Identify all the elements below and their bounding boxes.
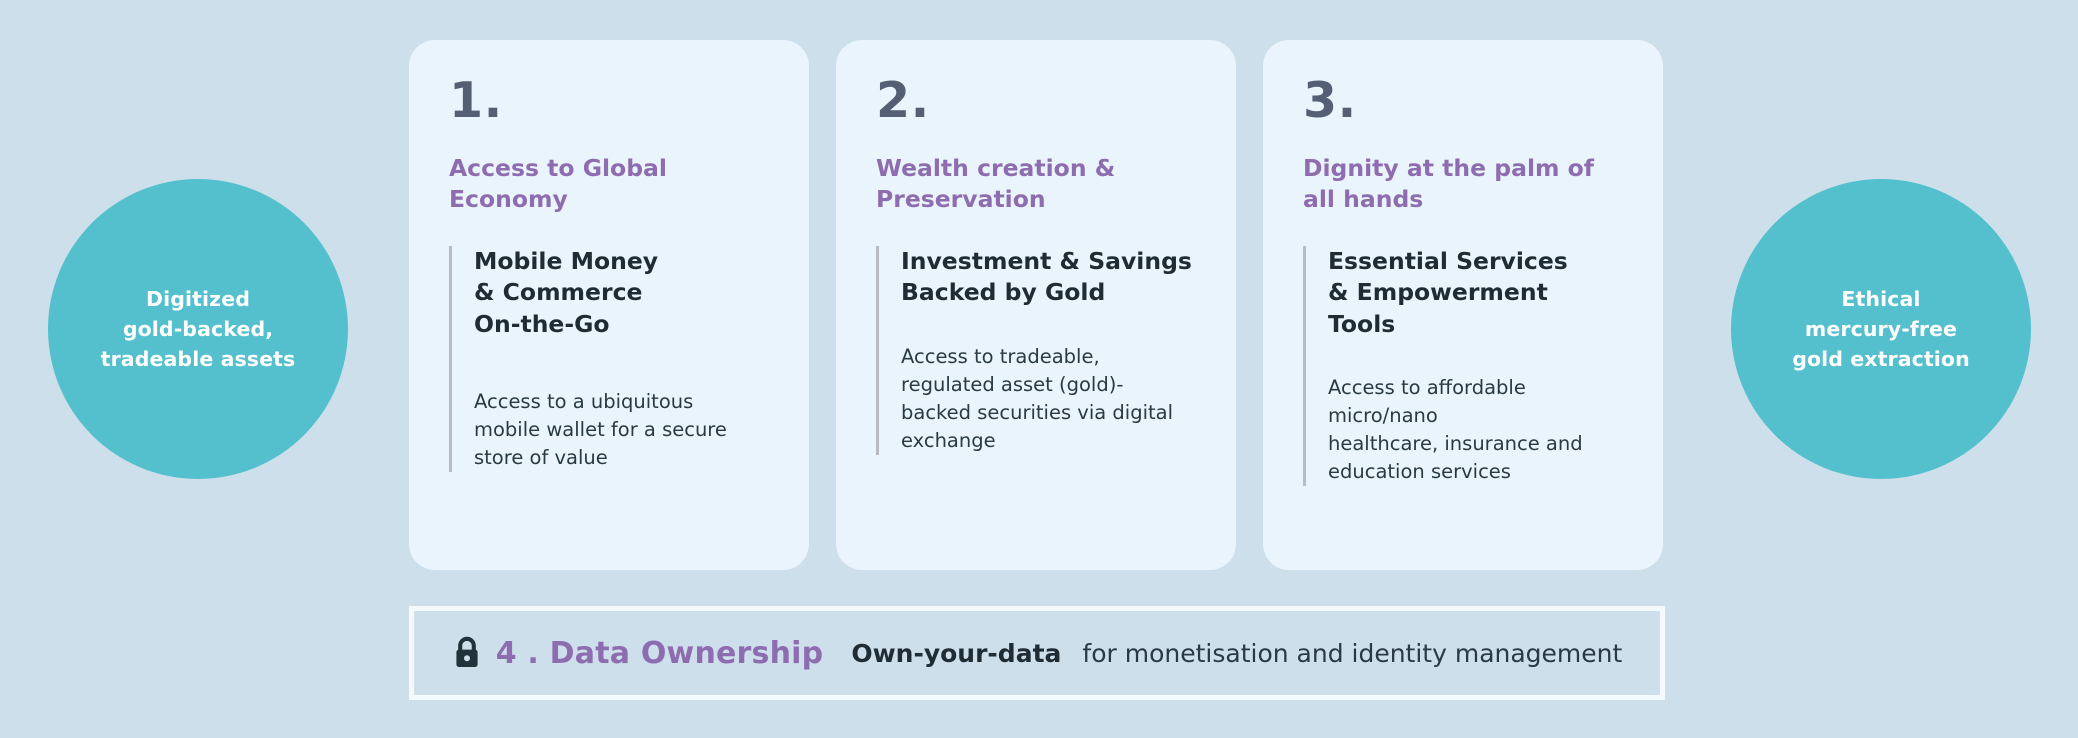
lock-icon [452, 635, 482, 671]
card-title: Wealth creation & Preservation [876, 153, 1196, 214]
footer-strong-text: Own-your-data [851, 639, 1061, 668]
card-body: Essential Services & Empowerment Tools A… [1303, 246, 1623, 486]
card-title: Dignity at the palm of all hands [1303, 153, 1623, 214]
card-subtitle: Mobile Money & Commerce On-the-Go [474, 246, 769, 340]
right-circle-label: Ethical mercury-free gold extraction [1776, 284, 1986, 375]
left-circle-label: Digitized gold-backed, tradeable assets [85, 284, 312, 375]
card-subtitle: Investment & Savings Backed by Gold [901, 246, 1196, 309]
card-number: 2. [876, 76, 1196, 125]
card-description: Access to affordable micro/nano healthca… [1328, 374, 1623, 486]
card-dignity-at-the-palm-of-all-hands[interactable]: 3. Dignity at the palm of all hands Esse… [1263, 40, 1663, 570]
left-circle-badge: Digitized gold-backed, tradeable assets [48, 179, 348, 479]
card-number: 1. [449, 76, 769, 125]
data-ownership-bar[interactable]: 4 . Data Ownership Own-your-data for mon… [409, 606, 1665, 700]
card-description: Access to a ubiquitous mobile wallet for… [474, 388, 769, 472]
infographic-stage: Digitized gold-backed, tradeable assets … [0, 0, 2078, 738]
card-subtitle: Essential Services & Empowerment Tools [1328, 246, 1623, 340]
card-number: 3. [1303, 76, 1623, 125]
footer-rest-text: for monetisation and identity management [1082, 639, 1622, 668]
cards-row: 1. Access to Global Economy Mobile Money… [409, 40, 1665, 570]
footer-step-label: 4 . Data Ownership [496, 636, 824, 671]
card-body: Investment & Savings Backed by Gold Acce… [876, 246, 1196, 455]
right-circle-badge: Ethical mercury-free gold extraction [1731, 179, 2031, 479]
card-access-to-global-economy[interactable]: 1. Access to Global Economy Mobile Money… [409, 40, 809, 570]
card-title: Access to Global Economy [449, 153, 769, 214]
card-body: Mobile Money & Commerce On-the-Go Access… [449, 246, 769, 472]
card-wealth-creation-preservation[interactable]: 2. Wealth creation & Preservation Invest… [836, 40, 1236, 570]
card-description: Access to tradeable, regulated asset (go… [901, 343, 1196, 455]
